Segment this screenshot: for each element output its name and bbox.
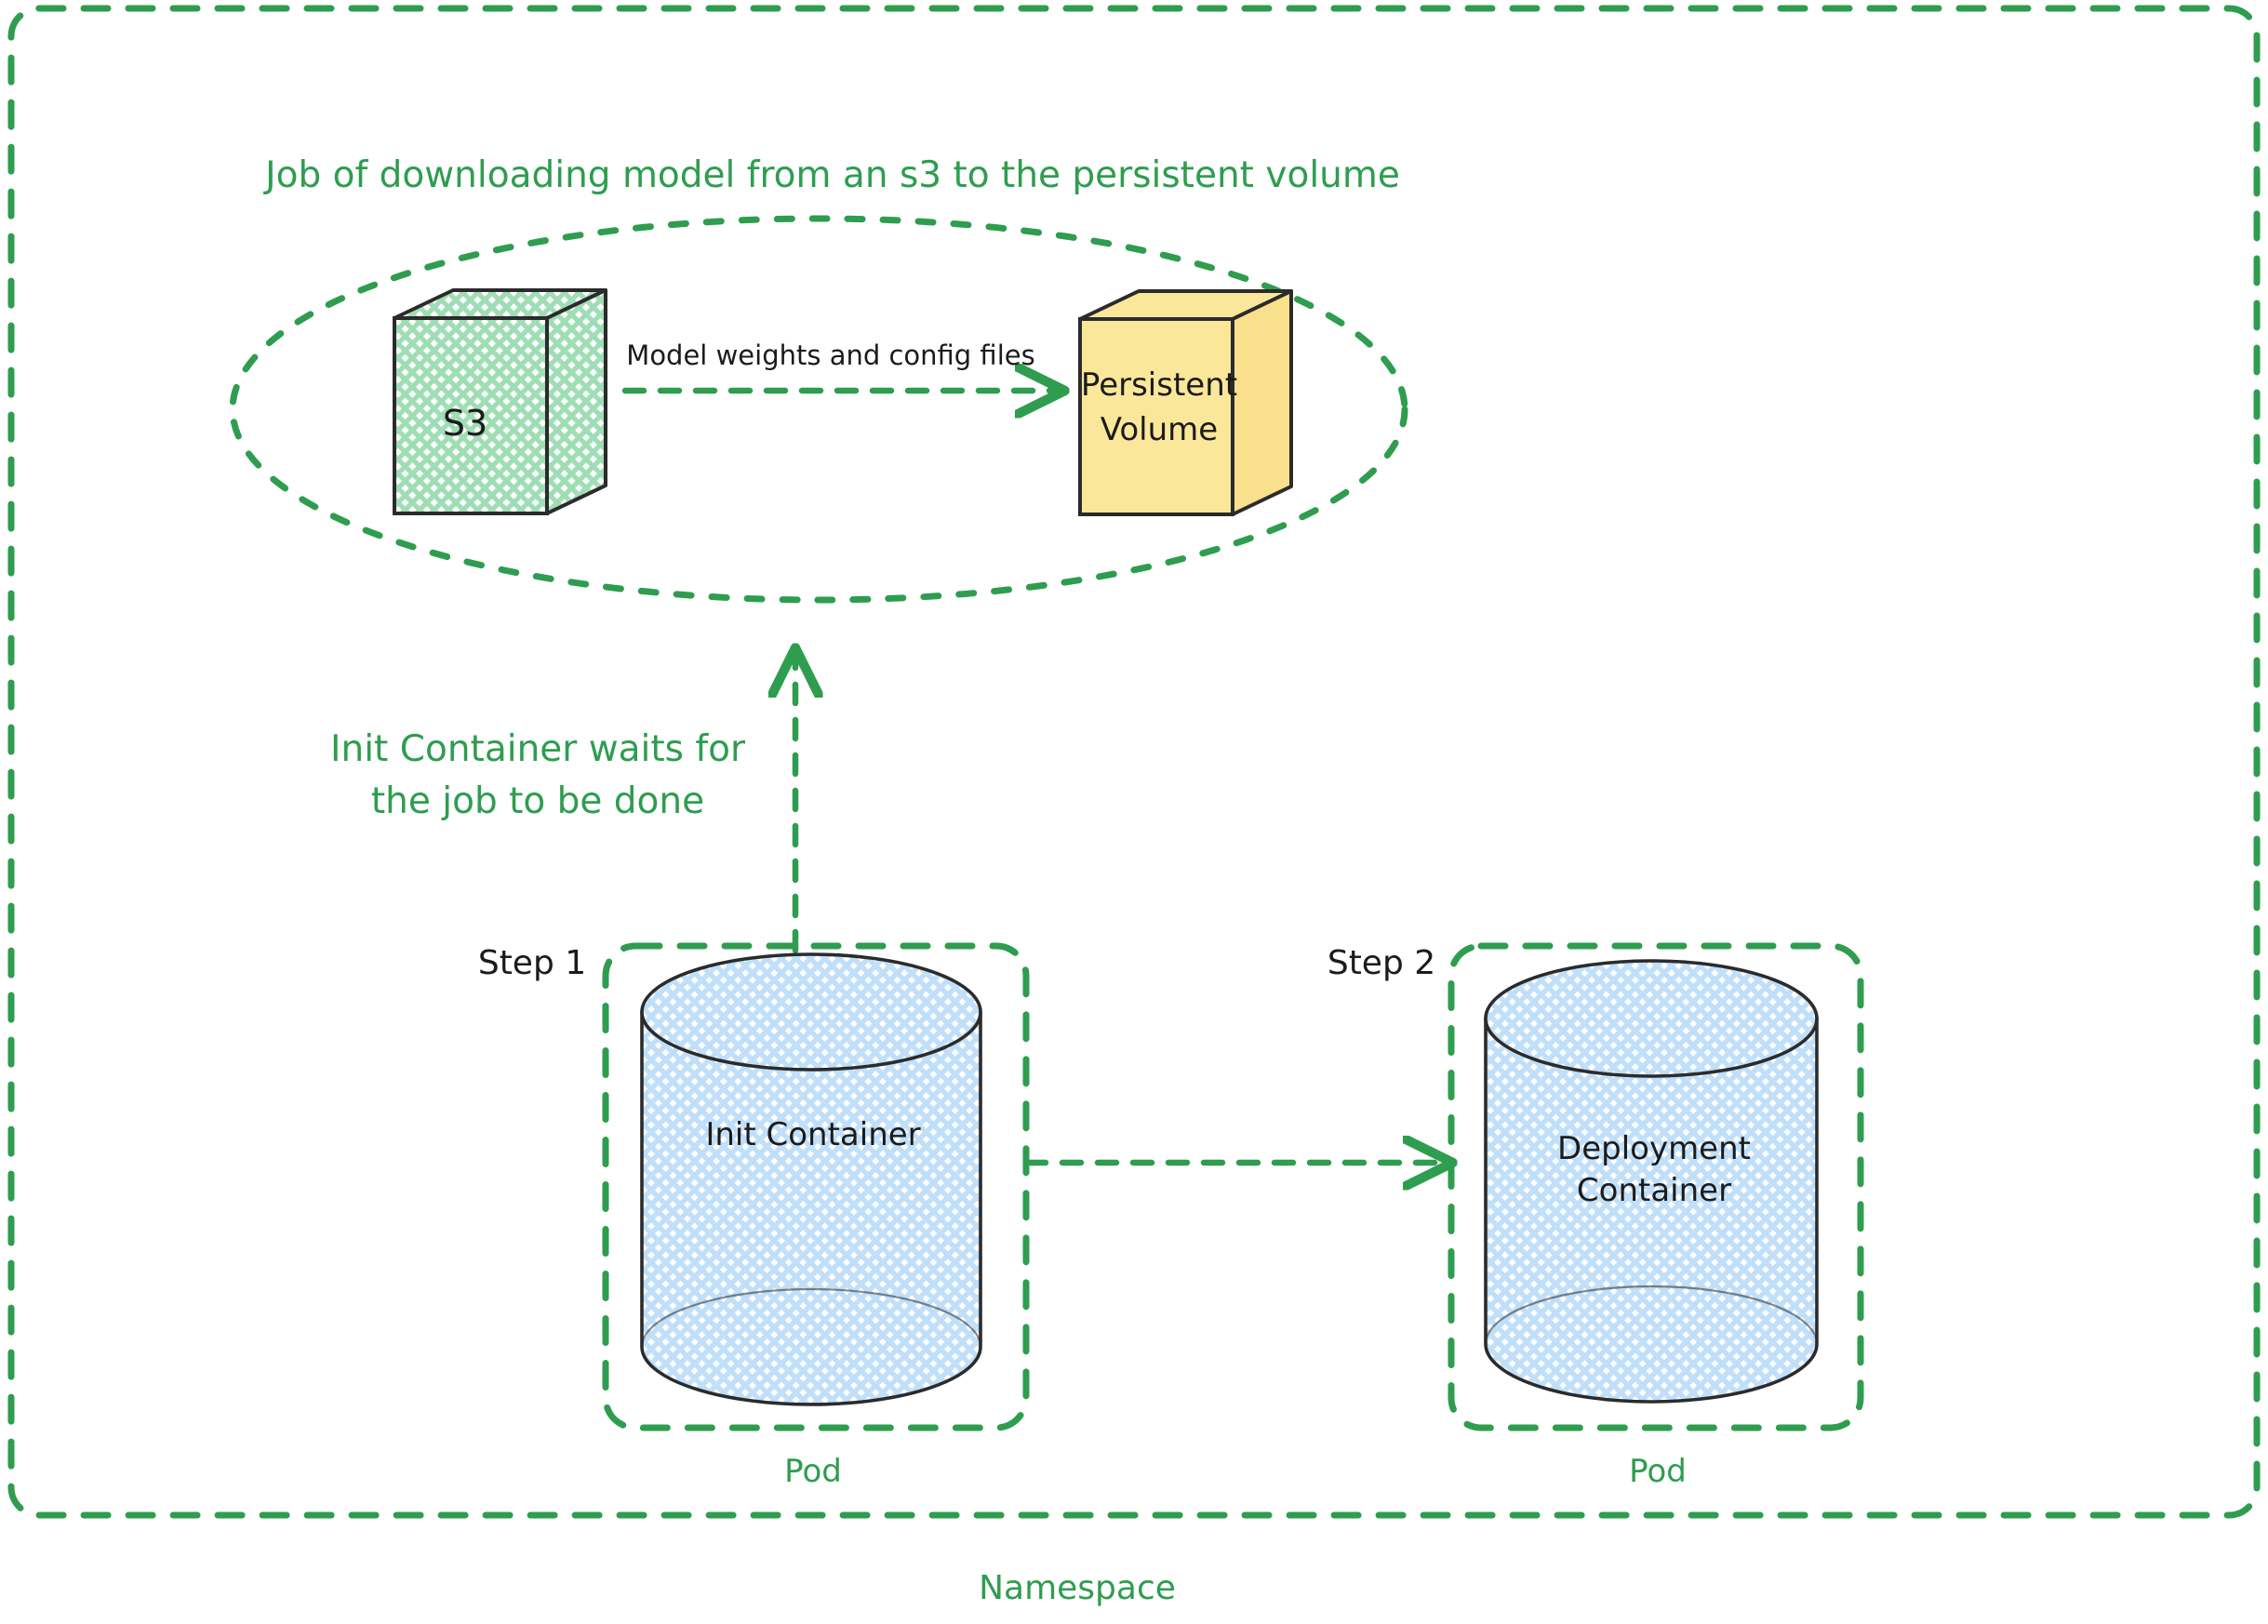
pod-init-group-label: Pod xyxy=(784,1453,842,1491)
diagram-vector-layer xyxy=(0,0,2268,1624)
init-container-cylinder-icon xyxy=(642,954,981,1404)
namespace-label: Namespace xyxy=(979,1568,1176,1609)
s3-node-label: S3 xyxy=(443,402,487,445)
persistent-volume-node-label-line-1: Persistent xyxy=(1081,366,1237,405)
edge-label-model-weights: Model weights and config files xyxy=(626,339,1034,372)
init-container-label: Init Container xyxy=(705,1116,920,1154)
diagram-canvas: Job of downloading model from an s3 to t… xyxy=(0,0,2268,1624)
s3-cube-icon xyxy=(394,290,606,513)
job-group-label: Job of downloading model from an s3 to t… xyxy=(265,153,1400,198)
init-container-wait-note-line-1: Init Container waits for xyxy=(330,727,745,772)
deployment-container-label-line-2: Container xyxy=(1577,1172,1731,1210)
pod-init-step-label: Step 1 xyxy=(478,943,586,984)
persistent-volume-node-label-line-2: Volume xyxy=(1101,411,1218,449)
pod-deployment-step-label: Step 2 xyxy=(1327,943,1435,984)
pod-deployment-group-label: Pod xyxy=(1629,1453,1687,1491)
deployment-container-label-line-1: Deployment xyxy=(1557,1130,1751,1168)
init-container-wait-note-line-2: the job to be done xyxy=(371,779,704,824)
